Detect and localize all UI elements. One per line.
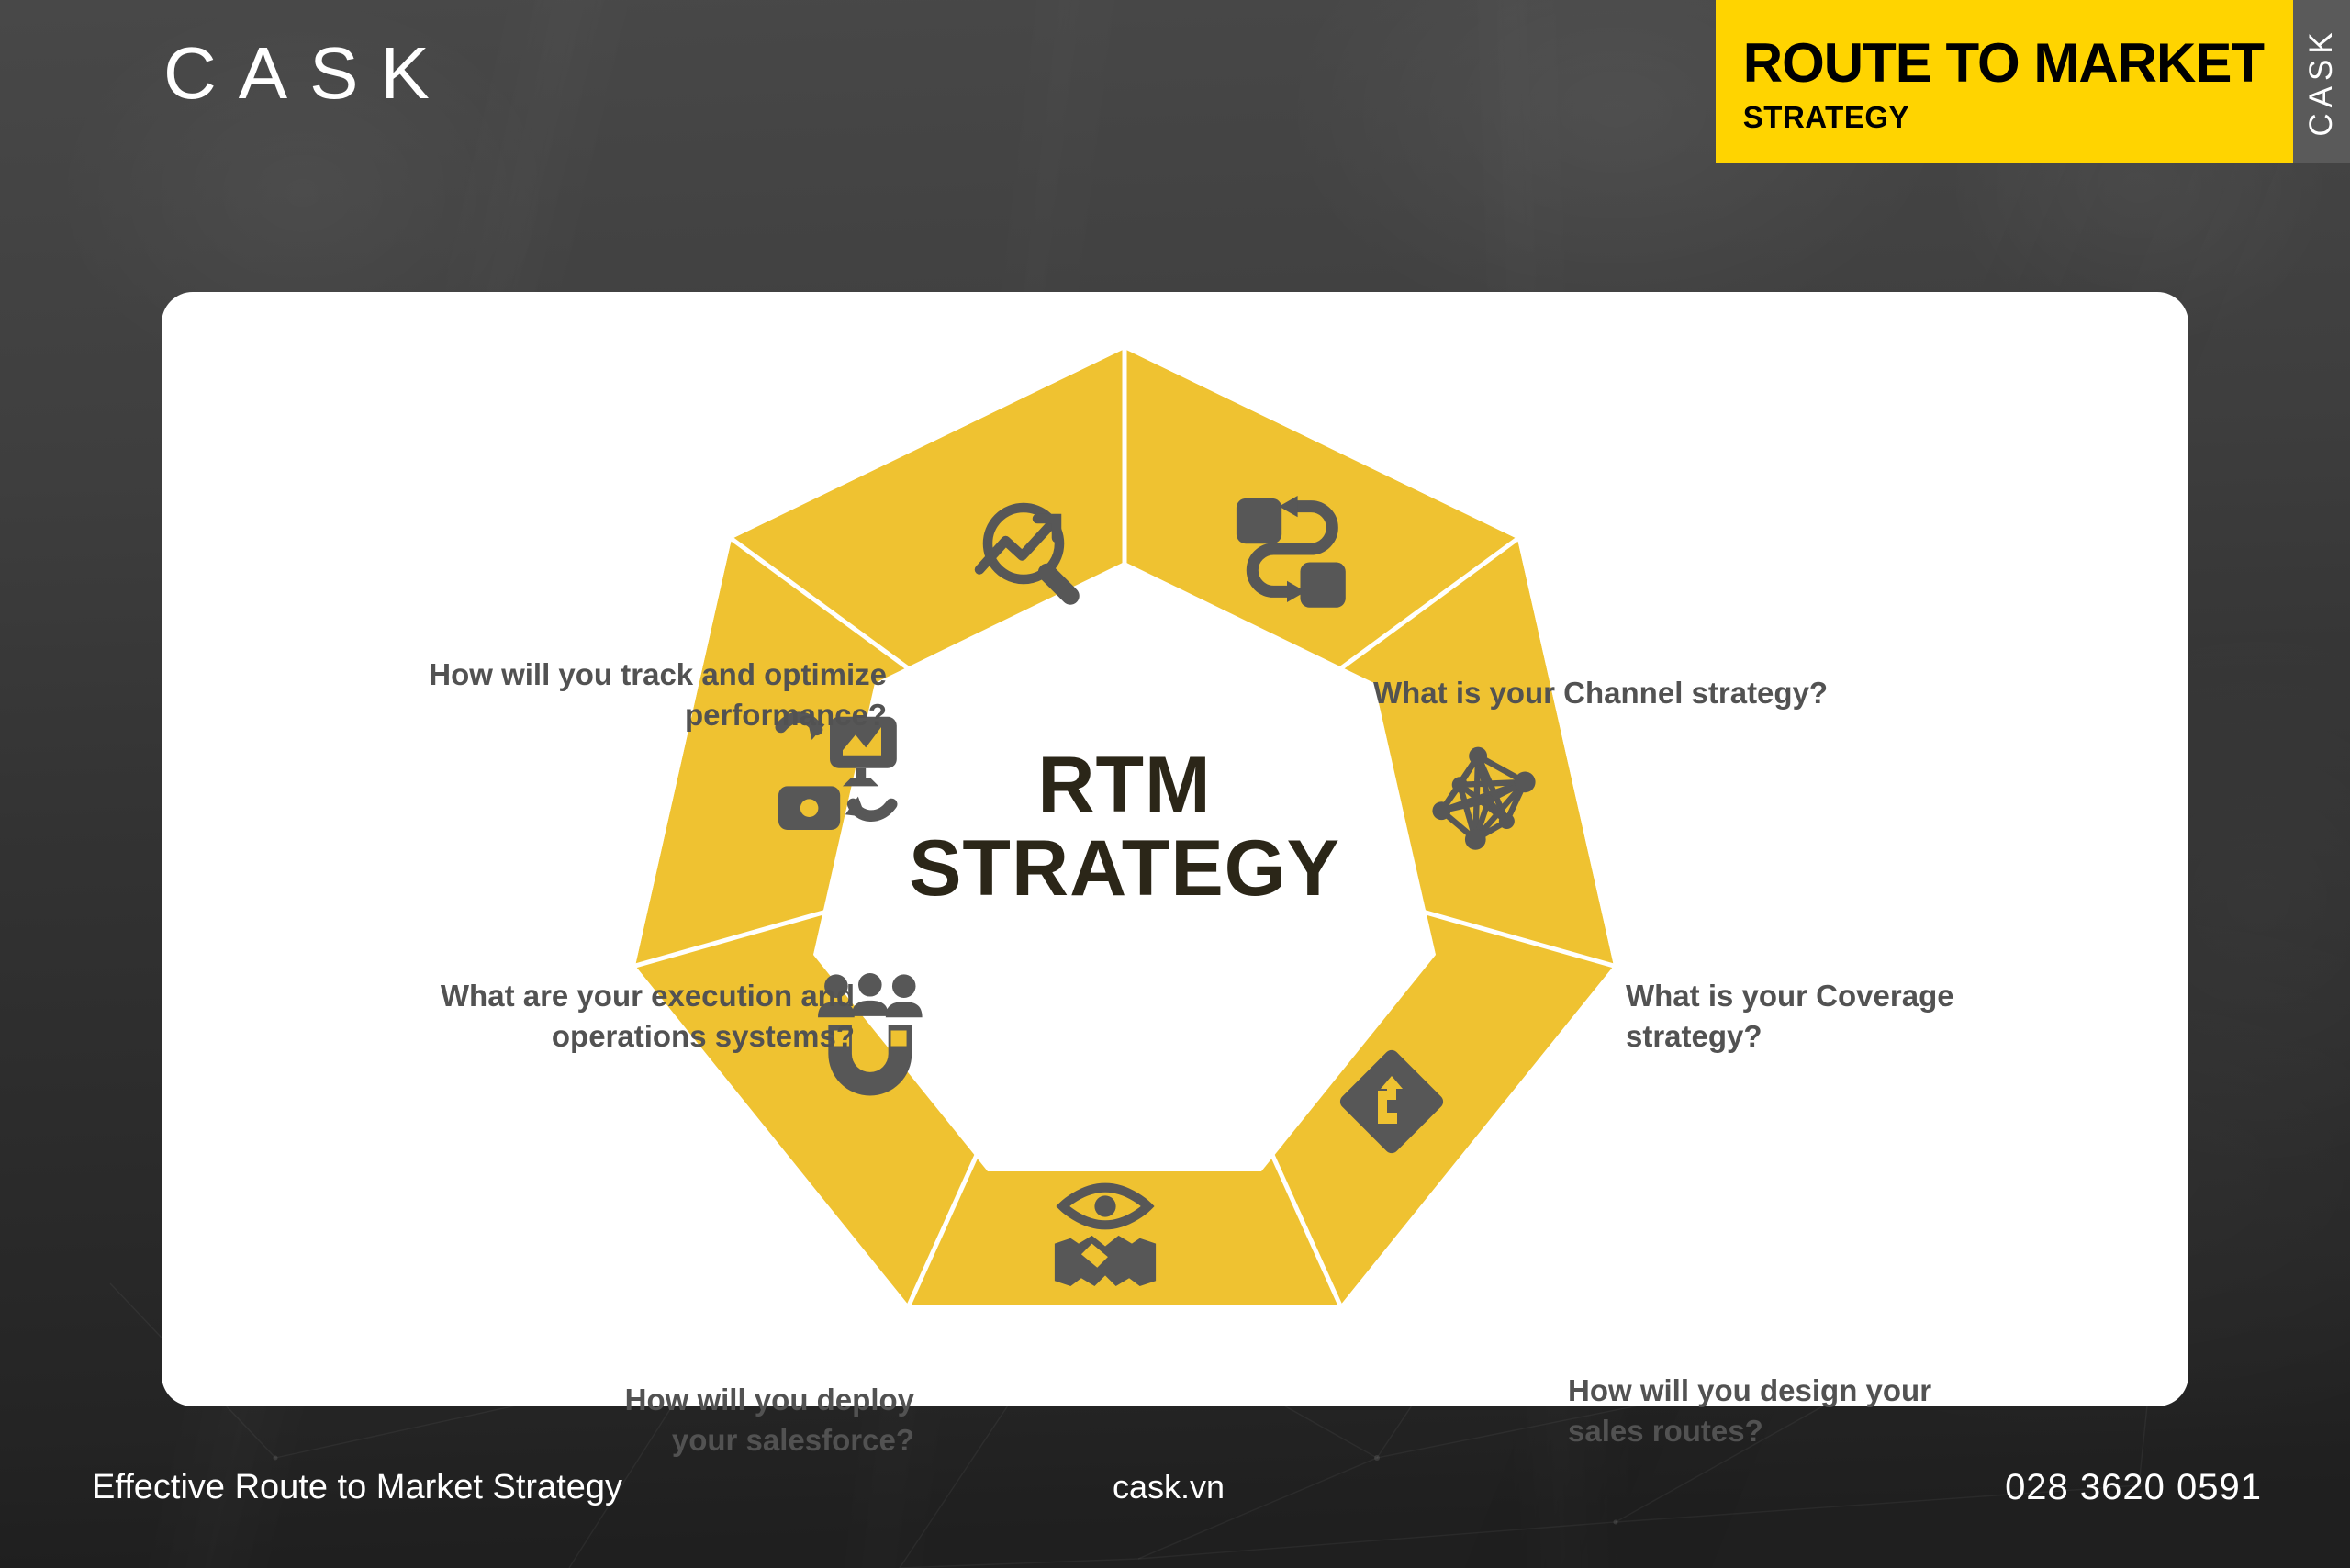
label-coverage-line-2: strategy? [1626, 1019, 1762, 1053]
label-track-line-1: How will you track and optimize [429, 657, 887, 691]
footer-website[interactable]: cask.vn [1113, 1468, 1225, 1506]
footer-tagline: Effective Route to Market Strategy [92, 1468, 622, 1507]
badge-side-strip: CASK [2293, 0, 2350, 163]
label-routes-line-1: How will you design your [1568, 1373, 1931, 1407]
label-coverage-line-1: What is your Coverage [1626, 979, 1954, 1013]
badge-yellow-panel: ROUTE TO MARKET STRATEGY [1716, 0, 2293, 163]
badge-subtitle: STRATEGY [1743, 102, 2264, 132]
label-exec-line-1: What are your execution and [441, 979, 855, 1013]
label-execution-operations: What are your execution and operations s… [290, 976, 855, 1057]
rtm-strategy-diagram: RTM STRATEGY How will you track and opti… [162, 292, 2188, 1406]
footer: Effective Route to Market Strategy cask.… [0, 1406, 2350, 1568]
label-coverage-strategy: What is your Coverage strategy? [1626, 976, 2057, 1057]
label-track-line-2: performance? [685, 698, 887, 732]
content-card: RTM STRATEGY How will you track and opti… [162, 292, 2188, 1406]
footer-phone[interactable]: 028 3620 0591 [2005, 1467, 2262, 1508]
heptagon-ring [621, 349, 1628, 1305]
label-exec-line-2: operations systems? [552, 1019, 855, 1053]
cask-logo: CASK [163, 37, 452, 110]
label-channel-line-1: What is your Channel strategy? [1373, 676, 1828, 710]
label-track-performance: How will you track and optimize performa… [336, 655, 887, 735]
badge-strip-label: CASK [2303, 27, 2340, 136]
route-to-market-badge: ROUTE TO MARKET STRATEGY CASK [1716, 0, 2350, 163]
label-channel-strategy: What is your Channel strategy? [1373, 673, 1942, 713]
badge-title: ROUTE TO MARKET [1743, 36, 2264, 91]
